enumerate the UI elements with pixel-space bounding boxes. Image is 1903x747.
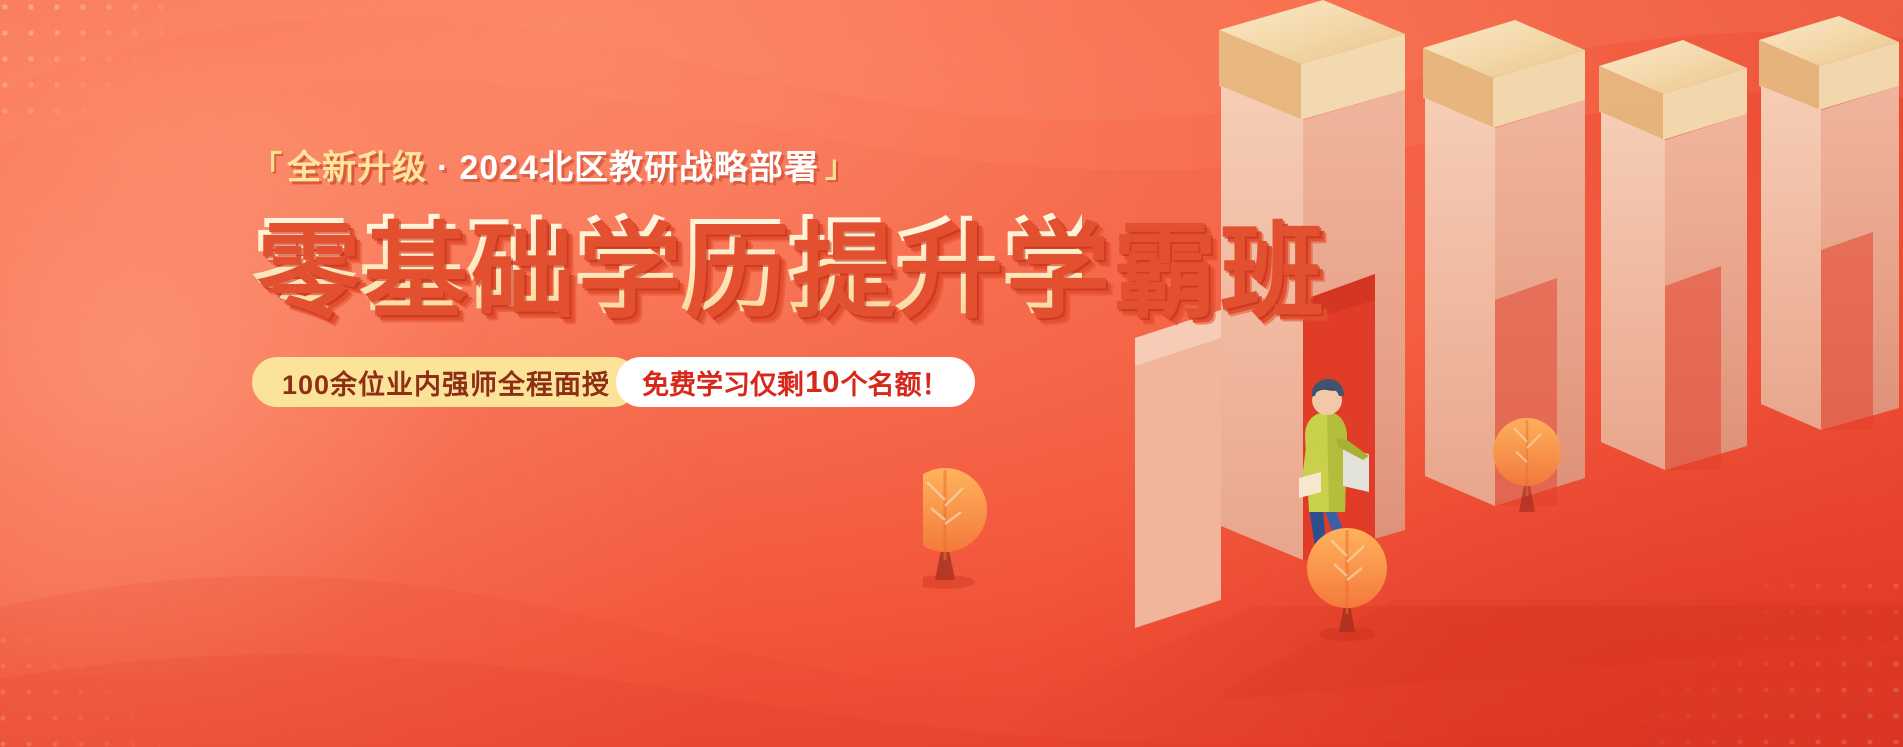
subtitle-rest: 2024北区教研战略部署 bbox=[459, 151, 819, 185]
subtitle-separator-dot: · bbox=[437, 151, 449, 185]
page-title: 零基础学历提升学霸班 bbox=[252, 213, 1082, 323]
quota-pill: 免费学习仅剩10个名额！ bbox=[616, 357, 974, 407]
promo-banner: 「 全新升级 · 2024北区教研战略部署 」 零基础学历提升学霸班 100余位… bbox=[0, 0, 1903, 747]
subtitle-highlight: 全新升级 bbox=[287, 151, 427, 185]
quota-pill-prefix: 免费学习仅剩 bbox=[642, 363, 804, 402]
dot-grid-bottom-left-decoration bbox=[0, 627, 160, 747]
bracket-right-icon: 」 bbox=[825, 153, 856, 183]
subtitle-line: 「 全新升级 · 2024北区教研战略部署 」 bbox=[252, 145, 1082, 191]
pill-row: 100余位业内强师全程面授 免费学习仅剩10个名额！ bbox=[252, 357, 1082, 407]
teachers-pill-label: 100余位业内强师全程面授 bbox=[282, 363, 610, 402]
quota-pill-suffix: 个名额！ bbox=[841, 363, 949, 402]
teachers-pill: 100余位业内强师全程面授 bbox=[252, 357, 638, 407]
dot-grid-top-left-decoration bbox=[0, 0, 182, 114]
dot-grid-bottom-right-decoration bbox=[1649, 573, 1903, 747]
quota-pill-count: 10 bbox=[805, 364, 839, 400]
copy-block: 「 全新升级 · 2024北区教研战略部署 」 零基础学历提升学霸班 100余位… bbox=[252, 145, 1082, 407]
bracket-left-icon: 「 bbox=[252, 153, 283, 183]
wave-bottom-decoration bbox=[0, 457, 1903, 747]
